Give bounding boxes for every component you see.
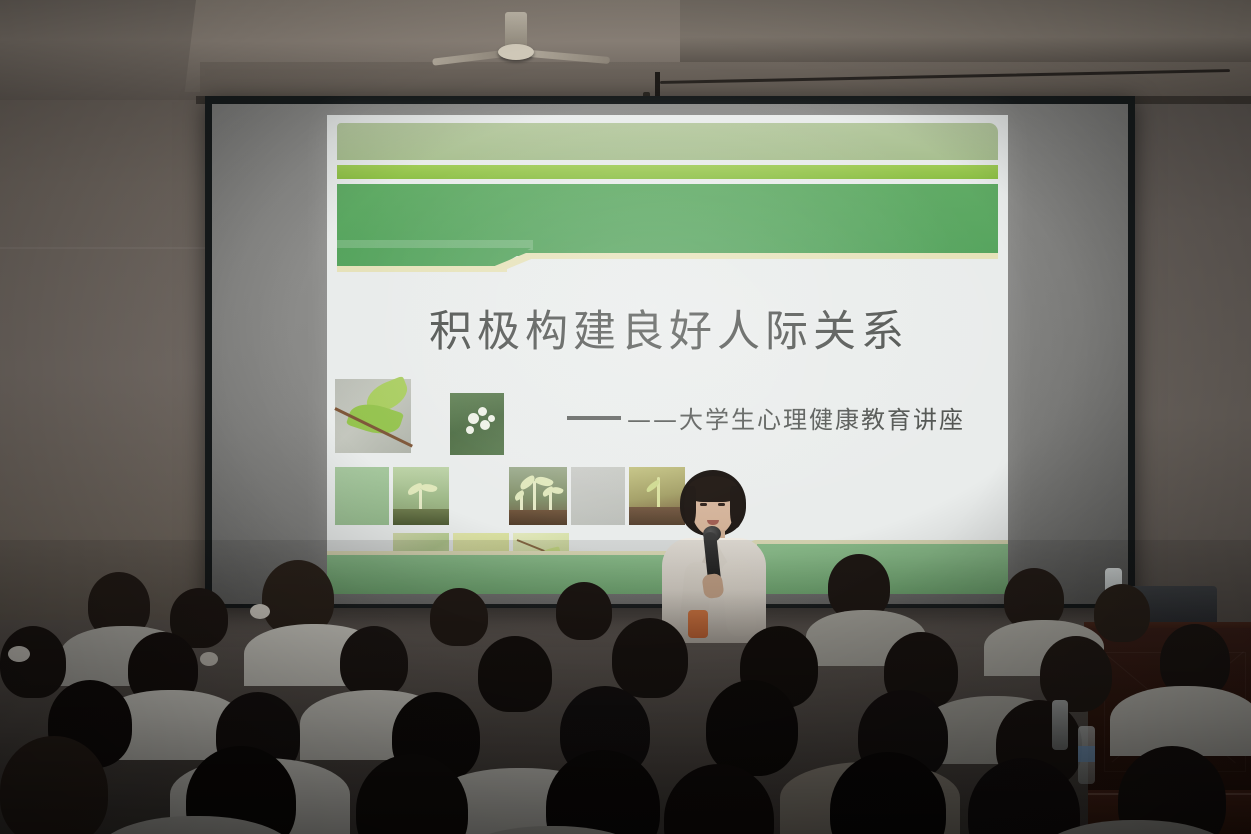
presenter-eye bbox=[700, 503, 707, 506]
audience-head bbox=[556, 582, 612, 640]
audience-shoulders bbox=[1110, 686, 1251, 756]
wall-seam bbox=[0, 247, 212, 249]
water-bottle-label bbox=[1078, 746, 1095, 762]
audience-head bbox=[1040, 636, 1112, 712]
presenter-hair-side bbox=[730, 486, 743, 528]
ceiling-fan-hub bbox=[498, 44, 534, 60]
slide-band-sage bbox=[337, 123, 998, 160]
hair-accessory bbox=[200, 652, 218, 666]
hair-accessory bbox=[8, 646, 30, 662]
slide-photo-leaf-branch bbox=[335, 379, 411, 453]
audience-head bbox=[340, 626, 408, 698]
lecture-hall-photo: 积极构建良好人际关系 ——大学生心理健康教育讲座 bbox=[0, 0, 1251, 834]
ceiling-wire-drop bbox=[655, 72, 660, 98]
slide-subtitle: ——大学生心理健康教育讲座 bbox=[627, 400, 965, 435]
slide-photo-twin-seedlings bbox=[509, 467, 567, 525]
audience-head bbox=[546, 750, 660, 834]
slide-photo-sprout-moss bbox=[393, 467, 449, 525]
audience-head bbox=[478, 636, 552, 712]
hair-accessory bbox=[250, 604, 270, 619]
ceiling-fan-icon bbox=[505, 12, 527, 48]
slide-band-green-step bbox=[337, 248, 502, 266]
slide-band-lime bbox=[337, 165, 998, 179]
audience-head bbox=[430, 588, 488, 646]
slide-photo-plain-gray bbox=[571, 467, 625, 525]
slide-cream-edge-right bbox=[527, 253, 998, 259]
slide-subtitle-row: ——大学生心理健康教育讲座 bbox=[567, 400, 987, 435]
audience-head bbox=[0, 626, 66, 698]
water-bottle bbox=[1052, 700, 1068, 750]
slide-photo-white-flower bbox=[450, 393, 504, 455]
audience bbox=[0, 540, 1251, 834]
presenter-hair-side bbox=[684, 486, 696, 526]
subtitle-dash-icon bbox=[567, 416, 621, 420]
audience-head bbox=[1094, 584, 1150, 642]
ceiling-beam-right bbox=[680, 0, 1251, 62]
slide-cream-edge-left bbox=[337, 266, 507, 272]
audience-head bbox=[612, 618, 688, 698]
slide-photo-plain-green bbox=[335, 467, 389, 525]
audience-head bbox=[706, 680, 798, 776]
slide-title: 积极构建良好人际关系 bbox=[389, 297, 949, 359]
presenter-eye bbox=[718, 503, 725, 506]
